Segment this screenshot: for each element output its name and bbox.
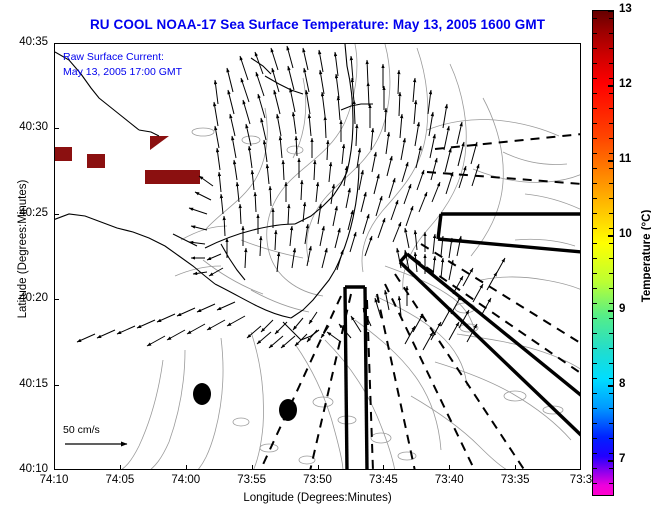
colorbar-tick-label: 13 [619,3,632,15]
colorbar-minor-tick [593,213,597,214]
colorbar-minor-tick [609,273,613,274]
colorbar-minor-tick [593,273,597,274]
x-tick-mark [449,465,450,470]
y-tick-mark [54,385,59,386]
colorbar-tick-mark [608,10,614,12]
colorbar-minor-tick [593,408,597,409]
colorbar-minor-tick [593,168,597,169]
colorbar-minor-tick [593,183,597,184]
map-plot-area[interactable]: Raw Surface Current: May 13, 2005 17:00 … [54,43,581,470]
colorbar-minor-tick [609,198,613,199]
y-tick-label: 40:10 [0,463,48,475]
colorbar-minor-tick [609,153,613,154]
y-tick-label: 40:15 [0,378,48,390]
colorbar-minor-tick [593,333,597,334]
colorbar-minor-tick [593,378,597,379]
colorbar-minor-tick [609,228,613,229]
colorbar-minor-tick [593,123,597,124]
station-markers [193,383,297,421]
colorbar-minor-tick [593,303,597,304]
colorbar-minor-tick [593,138,597,139]
colorbar-minor-tick [609,303,613,304]
colorbar-minor-tick [609,108,613,109]
y-tick-mark [54,128,59,129]
colorbar-minor-tick [609,18,613,19]
colorbar-minor-tick [609,318,613,319]
colorbar-minor-tick [593,78,597,79]
colorbar-minor-tick [593,318,597,319]
colorbar-minor-tick [609,408,613,409]
x-tick-label: 73:35 [485,474,545,486]
x-tick-mark [318,465,319,470]
colorbar-minor-tick [609,333,613,334]
colorbar-minor-tick [609,348,613,349]
colorbar-minor-tick [609,93,613,94]
colorbar-tick-label: 9 [619,303,625,315]
x-tick-label: 73:40 [419,474,479,486]
coastline [55,44,373,340]
surface-current-vectors [77,46,505,350]
colorbar-minor-tick [609,453,613,454]
colorbar-minor-tick [593,33,597,34]
y-tick-label: 40:30 [0,121,48,133]
x-tick-mark [252,465,253,470]
x-tick-label: 73:50 [288,474,348,486]
colorbar-minor-tick [609,213,613,214]
y-tick-label: 40:35 [0,36,48,48]
x-tick-mark [120,465,121,470]
colorbar-minor-tick [609,468,613,469]
map-overlay-svg [55,44,581,470]
x-tick-mark [515,465,516,470]
colorbar-minor-tick [593,228,597,229]
colorbar-minor-tick [593,93,597,94]
colorbar-tick-mark [608,160,614,162]
colorbar-tick-label: 11 [619,153,631,165]
colorbar-minor-tick [609,138,613,139]
colorbar-minor-tick [593,18,597,19]
x-tick-label: 73:45 [353,474,413,486]
colorbar-tick-mark [608,385,614,387]
y-axis-label: Latitude (Degrees:Minutes) [17,149,29,349]
colorbar-minor-tick [593,468,597,469]
colorbar-minor-tick [593,393,597,394]
sst-contour-lines [119,44,581,470]
hot-sst-patches [55,136,200,184]
colorbar-minor-tick [609,438,613,439]
vector-scale-label: 50 cm/s [63,424,100,436]
colorbar-tick-label: 12 [619,78,632,90]
x-tick-mark [383,465,384,470]
colorbar-minor-tick [609,363,613,364]
colorbar-minor-tick [593,423,597,424]
figure-canvas: RU COOL NOAA-17 Sea Surface Temperature:… [0,0,651,515]
colorbar-minor-tick [593,243,597,244]
colorbar-tick-mark [608,85,614,87]
colorbar-minor-tick [593,48,597,49]
colorbar-minor-tick [609,243,613,244]
colorbar-minor-tick [609,48,613,49]
colorbar-minor-tick [609,168,613,169]
colorbar-tick-mark [608,460,614,462]
colorbar-minor-tick [609,183,613,184]
radar-bearing-dashed-lines [260,134,581,470]
colorbar-minor-tick [609,123,613,124]
colorbar-minor-tick [609,288,613,289]
colorbar-minor-tick [593,198,597,199]
y-tick-mark [54,214,59,215]
x-tick-label: 74:10 [24,474,84,486]
figure-title: RU COOL NOAA-17 Sea Surface Temperature:… [54,17,581,32]
colorbar-tick-label: 7 [619,453,625,465]
colorbar-minor-tick [609,378,613,379]
colorbar-minor-tick [609,33,613,34]
colorbar-tick-mark [608,235,614,237]
colorbar-tick-mark [608,310,614,312]
colorbar-minor-tick [609,63,613,64]
colorbar-minor-tick [593,453,597,454]
colorbar-minor-tick [609,483,613,484]
colorbar-minor-tick [593,288,597,289]
colorbar-axis-label: Temperature (°C) [641,176,651,336]
annotation-timestamp: May 13, 2005 17:00 GMT [63,66,182,78]
x-tick-mark [186,465,187,470]
colorbar-minor-tick [593,153,597,154]
colorbar-minor-tick [593,438,597,439]
colorbar-tick-label: 8 [619,378,625,390]
colorbar-minor-tick [593,483,597,484]
colorbar-minor-tick [593,363,597,364]
colorbar-minor-tick [593,63,597,64]
y-tick-mark [54,299,59,300]
x-tick-label: 73:55 [222,474,282,486]
colorbar-minor-tick [609,78,613,79]
colorbar-minor-tick [609,393,613,394]
colorbar-minor-tick [593,258,597,259]
colorbar-minor-tick [593,348,597,349]
colorbar-minor-tick [593,108,597,109]
colorbar-minor-tick [609,423,613,424]
colorbar-tick-label: 10 [619,228,632,240]
colorbar-minor-tick [609,258,613,259]
annotation-raw-surface-current: Raw Surface Current: [63,51,164,63]
x-tick-label: 74:00 [156,474,216,486]
x-tick-label: 74:05 [90,474,150,486]
x-axis-label: Longitude (Degrees:Minutes) [54,492,581,504]
